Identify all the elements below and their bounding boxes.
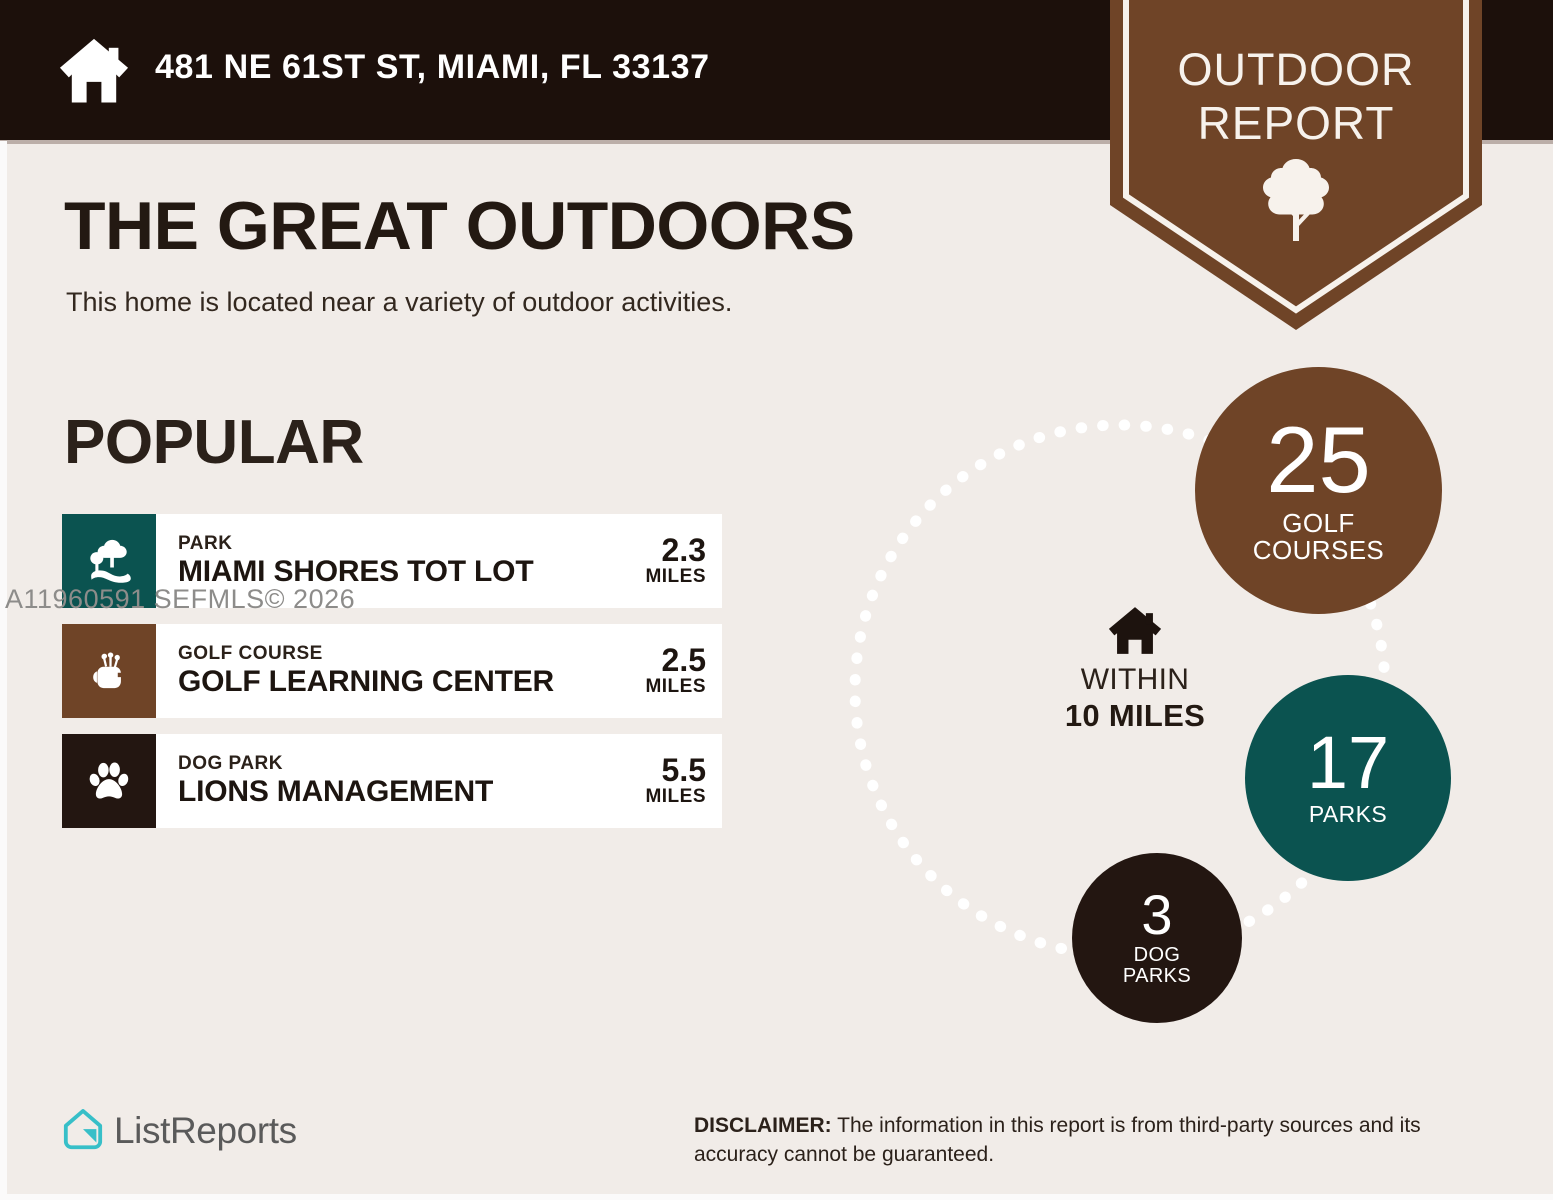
page-edge-bottom [0, 1194, 1553, 1200]
list-item[interactable]: GOLF COURSE GOLF LEARNING CENTER 2.5 MIL… [62, 624, 722, 718]
within-line-1: WITHIN [1035, 663, 1235, 698]
stat-value: 25 [1266, 417, 1371, 503]
poi-icon-box [62, 624, 156, 718]
poi-distance: 2.3 MILES [598, 514, 722, 608]
poi-distance: 2.5 MILES [598, 624, 722, 718]
page-subtitle: This home is located near a variety of o… [66, 286, 732, 318]
stat-label: PARKS [1309, 803, 1387, 827]
stat-label-line1: DOG [1123, 945, 1191, 966]
poi-text: DOG PARK LIONS MANAGEMENT [156, 734, 598, 828]
badge-title-line1: OUTDOOR [1110, 44, 1482, 96]
stat-circle-parks[interactable]: 17 PARKS [1245, 675, 1451, 881]
stat-label-line2: PARKS [1123, 966, 1191, 987]
popular-section-heading: POPULAR [64, 412, 364, 474]
tree-icon [1260, 157, 1332, 243]
poi-category: GOLF COURSE [178, 643, 598, 665]
popular-list: PARK MIAMI SHORES TOT LOT 2.3 MILES G [62, 514, 722, 844]
stat-label: DOG PARKS [1123, 945, 1191, 987]
page-edge-left [0, 141, 7, 1200]
outdoor-report-page: 481 NE 61ST ST, MIAMI, FL 33137 OUTDOOR … [0, 0, 1553, 1200]
poi-distance: 5.5 MILES [598, 734, 722, 828]
within-line-2: 10 MILES [1035, 698, 1235, 734]
stat-label-line2: COURSES [1253, 537, 1384, 564]
park-icon [83, 535, 135, 587]
poi-distance-value: 2.5 [662, 644, 706, 678]
home-icon [57, 33, 131, 107]
poi-distance-value: 5.5 [662, 754, 706, 788]
stat-label-line1: PARKS [1309, 803, 1387, 827]
stat-value: 3 [1141, 889, 1172, 941]
stat-label-line1: GOLF [1253, 510, 1384, 537]
property-address: 481 NE 61ST ST, MIAMI, FL 33137 [155, 48, 710, 87]
poi-name: LIONS MANAGEMENT [178, 775, 598, 810]
listreports-logo[interactable]: ListReports [62, 1108, 297, 1154]
within-10-miles-cluster: WITHIN 10 MILES 25 GOLF COURSES 17 PARKS… [820, 350, 1480, 1030]
poi-distance-value: 2.3 [662, 534, 706, 568]
listreports-logo-text: ListReports [114, 1110, 297, 1152]
poi-distance-unit: MILES [645, 567, 706, 588]
golf-bag-icon [86, 648, 132, 694]
page-title: THE GREAT OUTDOORS [64, 192, 855, 260]
stat-value: 17 [1307, 729, 1389, 797]
stat-circle-golf-courses[interactable]: 25 GOLF COURSES [1195, 367, 1442, 614]
mls-watermark: A11960591 SEFMLS© 2026 [5, 584, 355, 615]
badge-title-line2: REPORT [1110, 96, 1482, 150]
poi-category: PARK [178, 533, 598, 555]
poi-icon-box [62, 734, 156, 828]
listreports-house-pin-icon [62, 1108, 104, 1154]
poi-distance-unit: MILES [645, 787, 706, 808]
poi-text: GOLF COURSE GOLF LEARNING CENTER [156, 624, 598, 718]
poi-distance-unit: MILES [645, 677, 706, 698]
disclaimer-label: DISCLAIMER: [694, 1114, 832, 1137]
list-item[interactable]: DOG PARK LIONS MANAGEMENT 5.5 MILES [62, 734, 722, 828]
poi-name: GOLF LEARNING CENTER [178, 665, 598, 700]
stat-label: GOLF COURSES [1253, 510, 1384, 564]
disclaimer: DISCLAIMER: The information in this repo… [694, 1112, 1494, 1170]
paw-icon [85, 757, 133, 805]
within-label-block: WITHIN 10 MILES [1035, 605, 1235, 733]
home-icon [1107, 605, 1163, 655]
poi-category: DOG PARK [178, 753, 598, 775]
stat-circle-dog-parks[interactable]: 3 DOG PARKS [1072, 853, 1242, 1023]
outdoor-report-badge: OUTDOOR REPORT [1110, 0, 1482, 330]
